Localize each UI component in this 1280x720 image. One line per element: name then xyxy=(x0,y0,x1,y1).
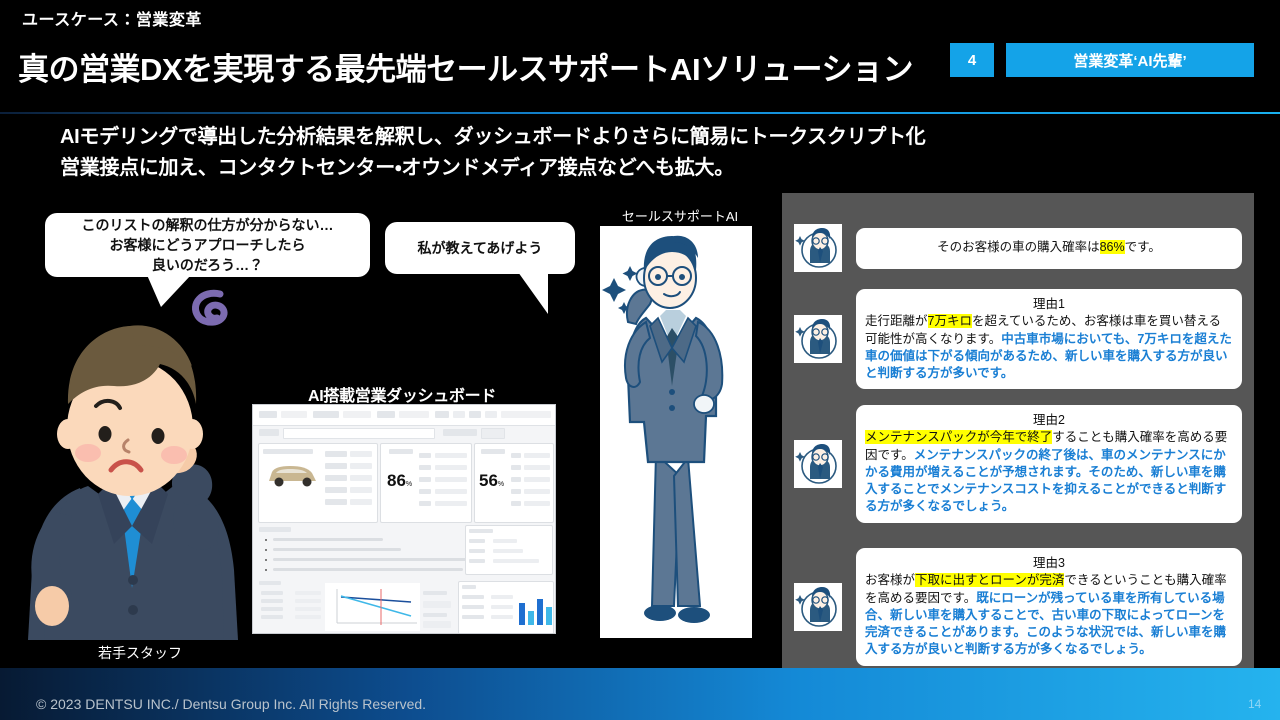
chat-bubble-reason-2: 理由2 メンテナンスパックが今年で終了することも購入確率を高める要因です。メンテ… xyxy=(856,405,1242,523)
ai-advisor-avatar xyxy=(794,440,842,488)
page-title: 真の営業DXを実現する最先端セールスサポートAIソリューション xyxy=(18,44,913,89)
ai-advisor-avatar xyxy=(794,583,842,631)
chat-bubble-reason-1: 理由1 走行距離が7万キロを超えているため、お客様は車を買い替える可能性が高くな… xyxy=(856,289,1242,389)
bubble-tail-icon xyxy=(518,272,548,314)
ai-person-panel xyxy=(600,226,752,638)
young-staff-illustration xyxy=(10,288,270,648)
chat-body-text: お客様が下取に出すとローンが完済できるということも購入確率を高める要因です。既に… xyxy=(865,573,1227,656)
dashboard-screenshot: 86% 56% xyxy=(252,404,556,634)
dashboard-title: AI搭載営業ダッシュボード xyxy=(252,382,552,406)
slide-root: ユースケース：営業変革 真の営業DXを実現する最先端セールスサポートAIソリュー… xyxy=(0,0,1280,720)
chat-bubble-answer: そのお客様の車の購入確率は86%です。 xyxy=(856,228,1242,269)
chapter-number-badge: 4 xyxy=(950,43,994,77)
chat-body-text: 走行距離が7万キロを超えているため、お客様は車を買い替える可能性が高くなります。… xyxy=(865,314,1232,380)
ai-advisor-avatar xyxy=(794,315,842,363)
chapter-name-badge: 営業変革‘AI先輩’ xyxy=(1006,43,1254,77)
copyright-text: © 2023 DENTSU INC./ Dentsu Group Inc. Al… xyxy=(36,696,426,712)
ai-caption: セールスサポートAI xyxy=(580,206,780,225)
bubble-staff-line-1: このリストの解釈の仕方が分からない… xyxy=(82,215,334,235)
ai-advisor-illustration xyxy=(600,226,752,638)
eyebrow-label: ユースケース：営業変革 xyxy=(22,6,202,30)
lead-copy: AIモデリングで導出した分析結果を解釈し、ダッシュボードよりさらに簡易にトークス… xyxy=(60,122,1240,184)
page-number: 14 xyxy=(1248,697,1261,711)
footer-bar xyxy=(0,668,1280,720)
chat-heading: 理由1 xyxy=(865,296,1233,313)
chat-message-reason-1: 理由1 走行距離が7万キロを超えているため、お客様は車を買い替える可能性が高くな… xyxy=(794,289,1242,389)
lead-line-1: AIモデリングで導出した分析結果を解釈し、ダッシュボードよりさらに簡易にトークス… xyxy=(60,122,1240,153)
chat-message-reason-3: 理由3 お客様が下取に出すとローンが完済できるということも購入確率を高める要因で… xyxy=(794,548,1242,666)
chat-bubble-reason-3: 理由3 お客様が下取に出すとローンが完済できるということも購入確率を高める要因で… xyxy=(856,548,1242,666)
speech-bubble-staff: このリストの解釈の仕方が分からない… お客様にどうアプローチしたら 良いのだろう… xyxy=(45,213,370,277)
dashboard-bar-chart xyxy=(519,591,556,625)
bubble-staff-line-3: 良いのだろう…？ xyxy=(82,255,334,275)
bubble-staff-line-2: お客様にどうアプローチしたら xyxy=(82,235,334,255)
car-thumbnail-icon xyxy=(263,457,321,491)
chat-heading: 理由3 xyxy=(865,555,1233,572)
staff-caption: 若手スタッフ xyxy=(10,643,270,663)
ai-advisor-avatar xyxy=(794,224,842,272)
header-divider xyxy=(0,112,1280,114)
chat-message-answer: そのお客様の車の購入確率は86%です。 xyxy=(794,224,1242,272)
ai-chat-panel: そのお客様の車の購入確率は86%です。 理由1 走行距離が7万キロを超えているた… xyxy=(782,193,1254,700)
speech-bubble-ai: 私が教えてあげよう xyxy=(385,222,575,274)
lead-line-2: 営業接点に加え、コンタクトセンター・オウンドメディア接点などへも拡大。 xyxy=(60,153,1240,184)
chat-heading: 理由2 xyxy=(865,412,1233,429)
bubble-ai-line-1: 私が教えてあげよう xyxy=(418,238,543,258)
chat-answer-text: そのお客様の車の購入確率は86%です。 xyxy=(937,239,1161,256)
chat-message-reason-2: 理由2 メンテナンスパックが今年で終了することも購入確率を高める要因です。メンテ… xyxy=(794,405,1242,523)
dashboard-score-secondary: 56% xyxy=(479,471,504,491)
dashboard-score-primary: 86% xyxy=(387,471,412,491)
chat-body-text: メンテナンスパックが今年で終了することも購入確率を高める要因です。メンテナンスパ… xyxy=(865,430,1227,513)
